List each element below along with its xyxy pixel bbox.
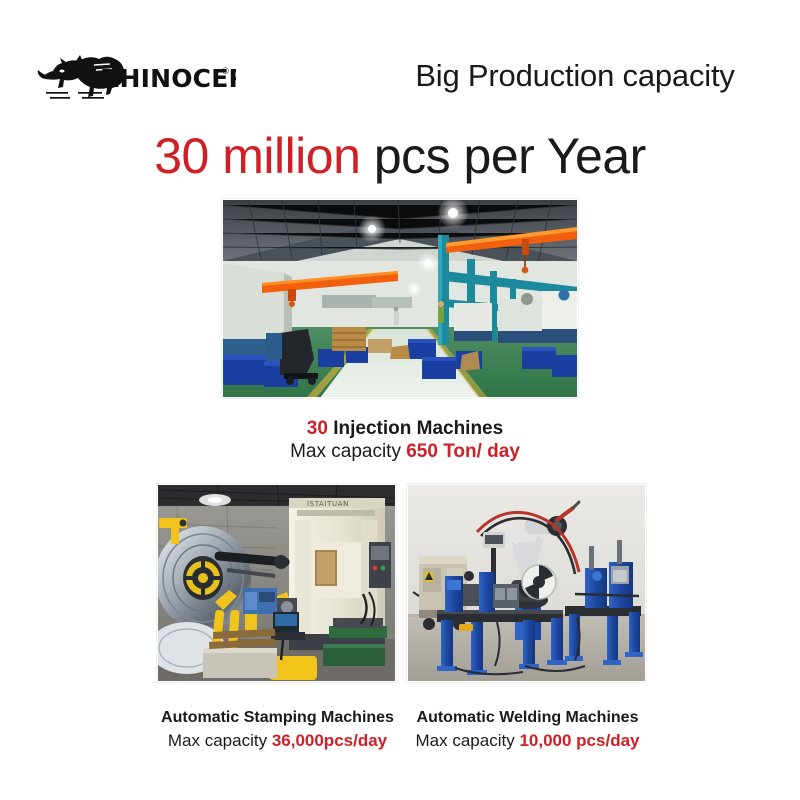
caption-stamping-line1: Automatic Stamping Machines	[140, 706, 415, 729]
headline: 30 million pcs per Year	[0, 126, 800, 186]
poster-canvas: RHINOCEROS ® Big Production capacity 30 …	[0, 0, 800, 800]
caption-stamping-machines: Automatic Stamping Machines Max capacity…	[140, 706, 415, 753]
page-title: Big Production capacity	[380, 58, 770, 94]
caption-injection-line2: Max capacity 650 Ton/ day	[205, 440, 605, 464]
caption-welding-line1: Automatic Welding Machines	[390, 706, 665, 729]
caption-welding-machines: Automatic Welding Machines Max capacity …	[390, 706, 665, 753]
registered-trademark-icon: ®	[221, 67, 230, 77]
caption-welding-prefix: Max capacity	[416, 731, 520, 750]
caption-welding-line2: Max capacity 10,000 pcs/day	[390, 729, 665, 753]
photo-welding-machines	[407, 484, 646, 682]
caption-injection-value: 650 Ton/ day	[406, 441, 520, 462]
photo-stamping-machines: ISTAITUAN	[157, 484, 396, 682]
caption-injection-prefix: Max capacity	[290, 441, 406, 462]
caption-injection-count: 30	[307, 418, 328, 439]
caption-injection-title: Injection Machines	[328, 418, 503, 439]
photo-injection-machines	[222, 199, 578, 398]
caption-stamping-value: 36,000pcs/day	[272, 731, 387, 750]
caption-injection-line1: 30 Injection Machines	[205, 417, 605, 440]
caption-welding-value: 10,000 pcs/day	[519, 731, 639, 750]
brand-logo: RHINOCEROS ®	[36, 52, 236, 106]
brand-wordmark: RHINOCEROS	[100, 64, 236, 93]
caption-stamping-prefix: Max capacity	[168, 731, 272, 750]
headline-rest: pcs per Year	[360, 128, 645, 184]
caption-stamping-line2: Max capacity 36,000pcs/day	[140, 729, 415, 753]
svg-text:ISTAITUAN: ISTAITUAN	[307, 500, 349, 508]
caption-injection-machines: 30 Injection Machines Max capacity 650 T…	[205, 417, 605, 464]
headline-highlight: 30 million	[154, 128, 360, 184]
